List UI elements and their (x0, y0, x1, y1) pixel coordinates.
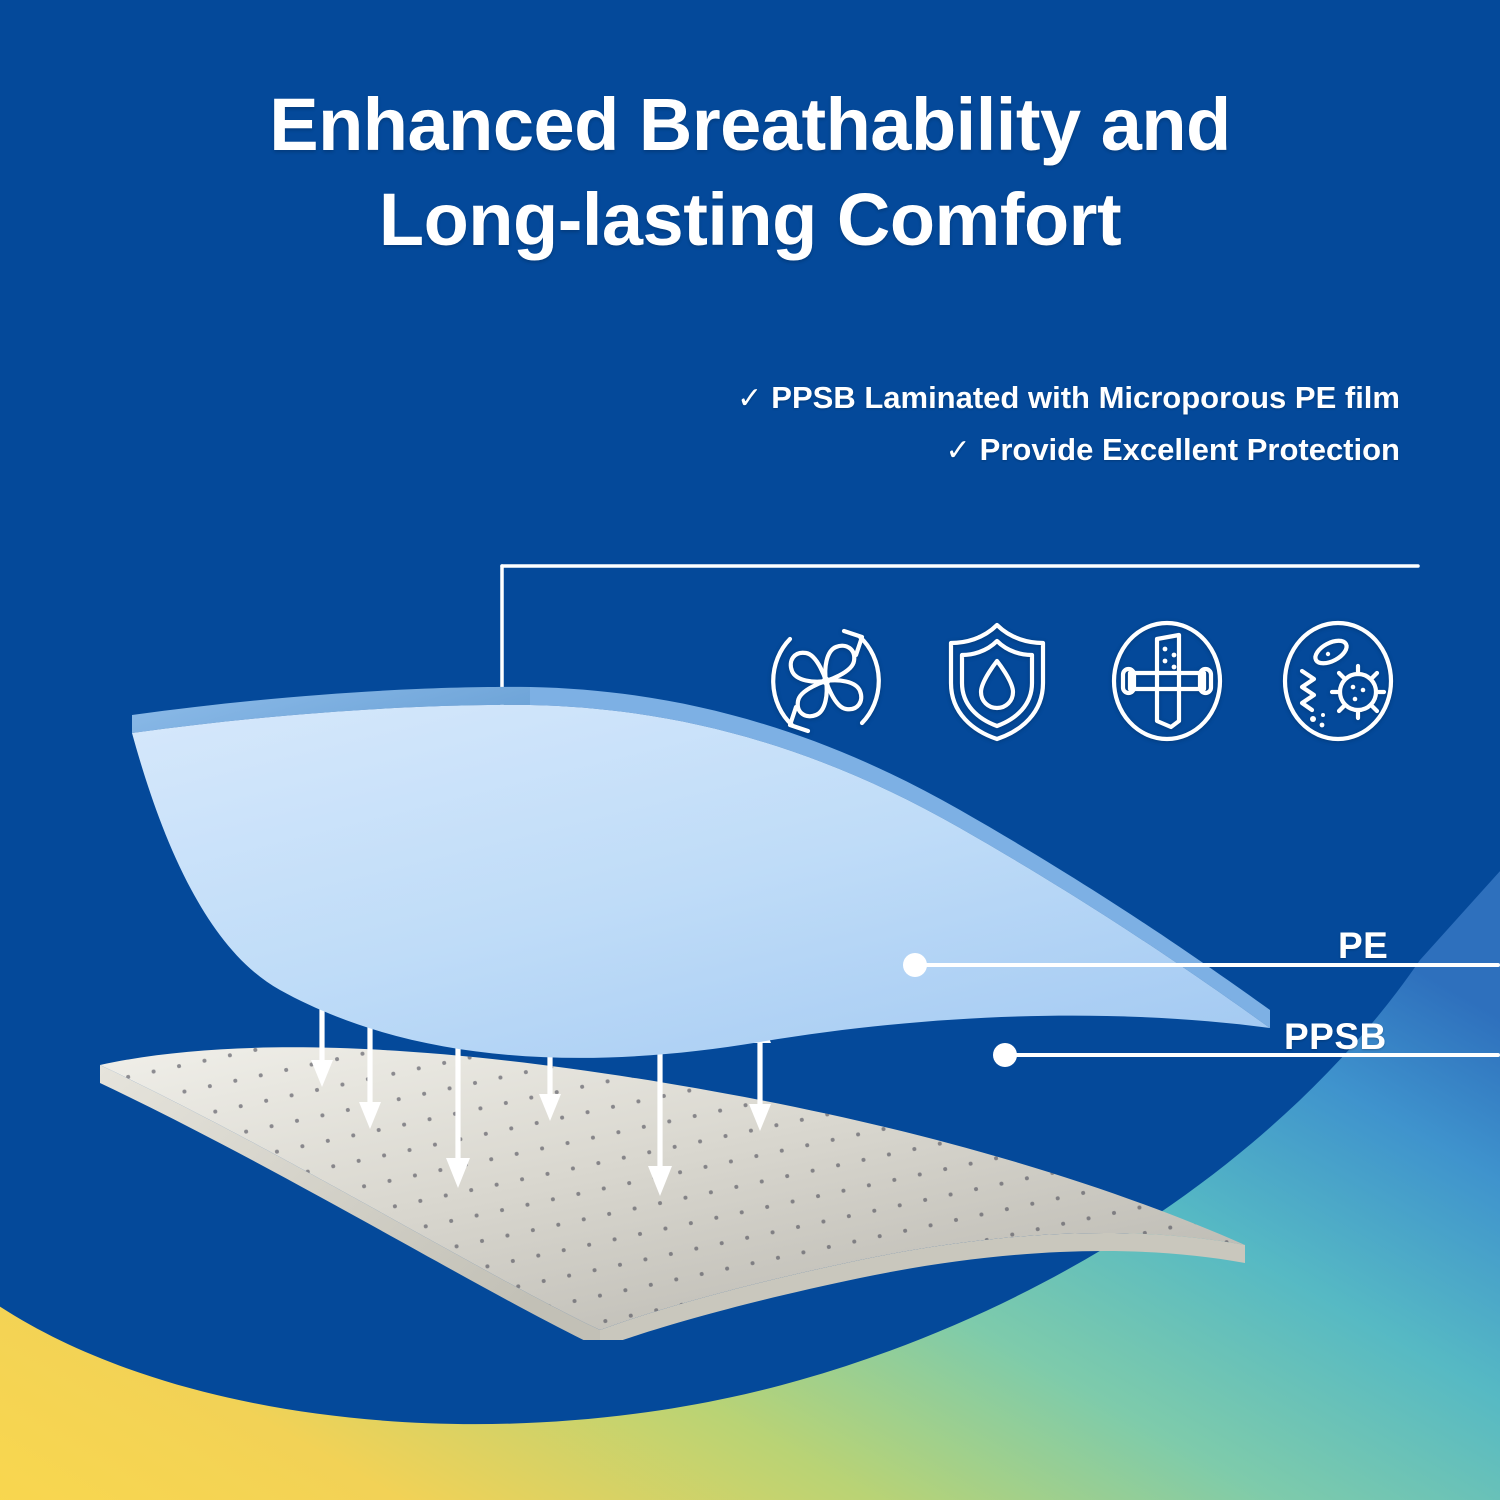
airflow-arrow (359, 903, 381, 1129)
shield-waterdrop-icon (923, 607, 1071, 755)
check-icon: ✓ (946, 426, 971, 476)
bullet-item-1-label: PPSB Laminated with Microporous PE film (771, 380, 1400, 415)
layer-label-ppsb: PPSB (1284, 1016, 1387, 1058)
infographic-canvas: Enhanced Breathability and Long-lasting … (0, 0, 1500, 1500)
airflow-arrow (539, 971, 561, 1121)
callout-ppsb-dot (993, 1043, 1017, 1067)
germ-barrier-icon (1264, 607, 1412, 755)
airflow-arrow (446, 848, 470, 1188)
callout-top-dot (492, 756, 512, 776)
airflow-arrow (311, 963, 333, 1087)
page-title-line-1: Enhanced Breathability and (0, 78, 1500, 173)
bullet-item-2: ✓Provide Excellent Protection (737, 424, 1400, 476)
fabric-strength-icon (1093, 607, 1241, 755)
callout-pe-dot (903, 953, 927, 977)
feature-icon-strip (752, 606, 1412, 756)
ppsb-layer (60, 990, 1420, 1340)
layer-label-pe: PE (1338, 925, 1388, 967)
feature-bullet-list: ✓PPSB Laminated with Microporous PE film… (737, 372, 1400, 475)
page-title-line-2: Long-lasting Comfort (0, 173, 1500, 268)
airflow-arrow (749, 1016, 771, 1131)
callout-ppsb-line (990, 1030, 1500, 1080)
check-icon: ✓ (737, 374, 762, 424)
bullet-item-2-label: Provide Excellent Protection (980, 432, 1400, 467)
bullet-item-1: ✓PPSB Laminated with Microporous PE film (737, 372, 1400, 424)
page-title: Enhanced Breathability and Long-lasting … (0, 78, 1500, 267)
breathability-fan-icon (752, 607, 900, 755)
airflow-arrow (648, 930, 672, 1196)
callout-pe-line (900, 940, 1500, 990)
layer-diagram (60, 660, 1420, 1340)
airflow-arrows (311, 848, 771, 1196)
